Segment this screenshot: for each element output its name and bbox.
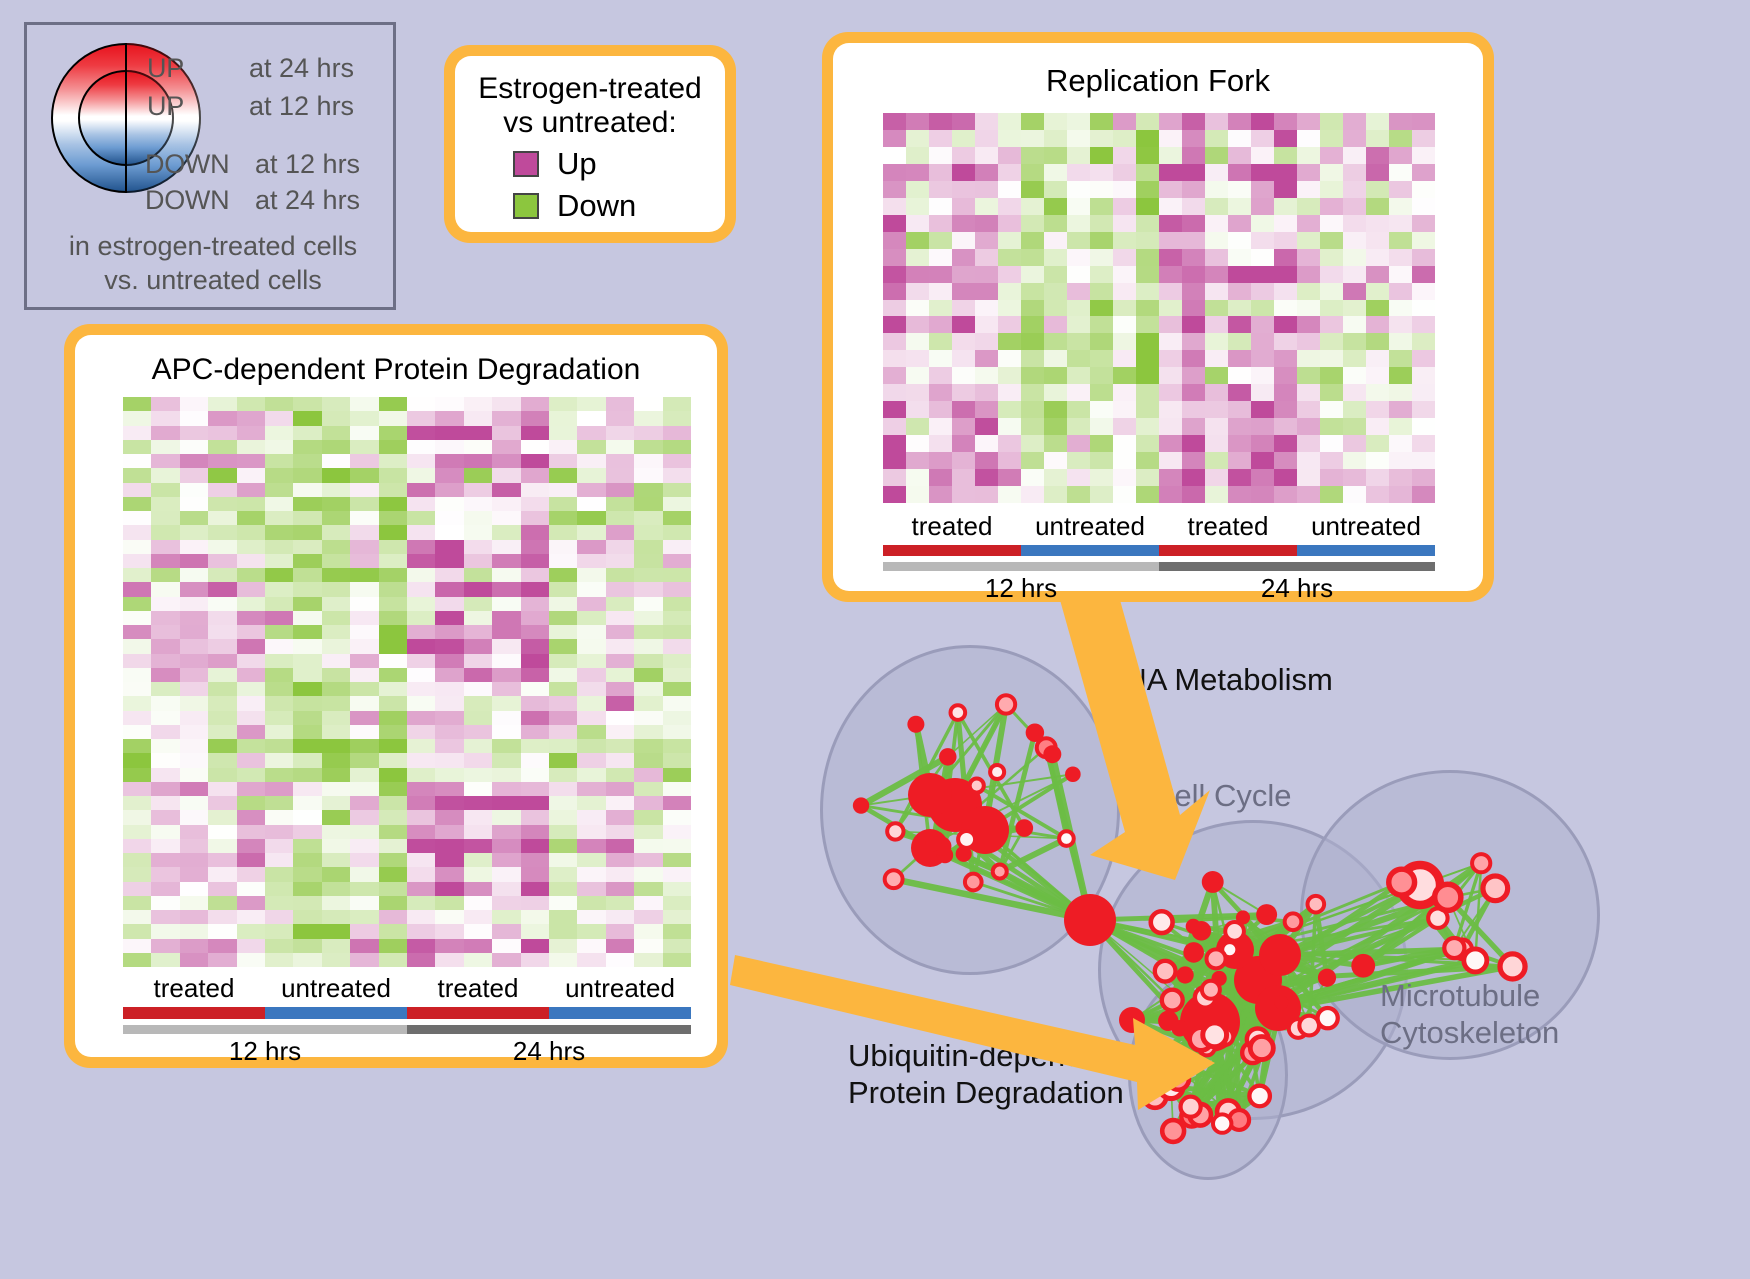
legend-item-down: Down (513, 188, 636, 224)
heatmap-cell (407, 411, 435, 425)
heatmap-cell (464, 782, 492, 796)
heatmap-cell (1205, 452, 1228, 469)
heatmap-cell (929, 130, 952, 147)
heatmap-cell (265, 625, 293, 639)
heatmap-cell (123, 910, 151, 924)
heatmap-cell (521, 440, 549, 454)
wheel-time-up-24: at 24 hrs (249, 53, 354, 84)
heatmap-cell (521, 426, 549, 440)
heatmap-cell (663, 411, 691, 425)
heatmap-cell (180, 611, 208, 625)
heatmap-cell (1343, 418, 1366, 435)
heatmap-cell (293, 540, 321, 554)
heatmap-cell (123, 768, 151, 782)
heatmap-cell (549, 625, 577, 639)
heatmap-cell (952, 401, 975, 418)
heatmap-cell (151, 882, 179, 896)
heatmap-cell (180, 939, 208, 953)
heatmap-cell (151, 540, 179, 554)
heatmap-cell (322, 896, 350, 910)
heatmap-cell (1251, 316, 1274, 333)
heatmap-cell (1251, 113, 1274, 130)
heatmap-cell (237, 867, 265, 881)
heatmap-cell (237, 540, 265, 554)
heatmap-cell (929, 113, 952, 130)
heatmap-cell (350, 654, 378, 668)
heatmap-cell (322, 682, 350, 696)
heatmap-cell (634, 825, 662, 839)
heatmap-cell (1389, 198, 1412, 215)
heatmap-cell (1205, 469, 1228, 486)
heatmap-cell (634, 768, 662, 782)
heatmap-cell (606, 525, 634, 539)
heatmap-cell (265, 511, 293, 525)
heatmap-cell (379, 696, 407, 710)
heatmap-cell (1159, 181, 1182, 198)
heatmap-cell (464, 810, 492, 824)
heatmap-cell (883, 164, 906, 181)
heatmap-cell (237, 397, 265, 411)
heatmap-cell (606, 825, 634, 839)
heatmap-cell (1159, 266, 1182, 283)
heatmap-cell (492, 867, 520, 881)
heatmap-cell (350, 468, 378, 482)
heatmap-cell (1343, 435, 1366, 452)
heatmap-cell (1412, 452, 1435, 469)
heatmap-cell (322, 839, 350, 853)
heatmap-cell (929, 350, 952, 367)
treatment-bar-replication-fork (883, 545, 1435, 556)
heatmap-cell (237, 411, 265, 425)
heatmap-cell (151, 597, 179, 611)
heatmap-cell (237, 910, 265, 924)
heatmap-cell (663, 753, 691, 767)
heatmap-cell (663, 582, 691, 596)
heatmap-cell (1320, 333, 1343, 350)
column-group-label: untreated (265, 973, 407, 1005)
heatmap-cell (407, 939, 435, 953)
heatmap-cell (606, 511, 634, 525)
heatmap-cell (208, 497, 236, 511)
heatmap-cell (906, 367, 929, 384)
heatmap-cell (663, 440, 691, 454)
heatmap-cell (606, 939, 634, 953)
heatmap-cell (350, 639, 378, 653)
heatmap-cell (265, 568, 293, 582)
heatmap-cell (929, 367, 952, 384)
heatmap-cell (1205, 266, 1228, 283)
heatmap-cell (663, 882, 691, 896)
heatmap-cell (208, 468, 236, 482)
heatmap-legend-box: Estrogen-treated vs untreated: Up Down (444, 45, 736, 243)
heatmap-cell (492, 939, 520, 953)
heatmap-cell (1228, 283, 1251, 300)
heatmap-cell (322, 867, 350, 881)
heatmap-cell (180, 625, 208, 639)
heatmap-cell (1366, 113, 1389, 130)
heatmap-cell (464, 582, 492, 596)
heatmap-cell (1136, 333, 1159, 350)
heatmap-cell (1366, 283, 1389, 300)
heatmap-legend-inner: Estrogen-treated vs untreated: Up Down (455, 56, 725, 232)
heatmap-cell (293, 882, 321, 896)
heatmap-cell (952, 181, 975, 198)
heatmap-cell (237, 682, 265, 696)
heatmap-cell (265, 554, 293, 568)
heatmap-cell (606, 668, 634, 682)
heatmap-cell (1389, 367, 1412, 384)
heatmap-cell (180, 397, 208, 411)
heatmap-cell (322, 411, 350, 425)
heatmap-cell (151, 682, 179, 696)
heatmap-cell (180, 440, 208, 454)
heatmap-cell (577, 625, 605, 639)
heatmap-cell (1090, 215, 1113, 232)
heatmap-cell (379, 753, 407, 767)
heatmap-cell (350, 711, 378, 725)
time-bar-segment (883, 562, 1159, 571)
heatmap-cell (435, 768, 463, 782)
heatmap-cell (577, 810, 605, 824)
heatmap-cell (237, 654, 265, 668)
heatmap-cell (606, 411, 634, 425)
heatmap-cell (521, 483, 549, 497)
heatmap-cell (1251, 452, 1274, 469)
heatmap-cell (208, 483, 236, 497)
heatmap-cell (492, 711, 520, 725)
label-microtubule-line-1: Microtubule (1380, 978, 1559, 1015)
heatmap-cell (521, 853, 549, 867)
heatmap-cell (1182, 266, 1205, 283)
heatmap-cell (208, 867, 236, 881)
heatmap-cell (464, 525, 492, 539)
heatmap-cell (180, 853, 208, 867)
heatmap-cell (1412, 266, 1435, 283)
heatmap-cell (998, 418, 1021, 435)
heatmap-cell (492, 782, 520, 796)
heatmap-cell (1182, 384, 1205, 401)
network-node (1171, 1020, 1188, 1037)
heatmap-cell (1274, 418, 1297, 435)
heatmap-cell (521, 582, 549, 596)
heatmap-cell (379, 896, 407, 910)
heatmap-cell (180, 497, 208, 511)
heatmap-cell (265, 540, 293, 554)
heatmap-cell (464, 611, 492, 625)
heatmap-cell (975, 367, 998, 384)
heatmap-cell (1412, 232, 1435, 249)
heatmap-cell (1320, 401, 1343, 418)
heatmap-cell (322, 597, 350, 611)
heatmap-cell (1320, 113, 1343, 130)
heatmap-cell (606, 568, 634, 582)
heatmap-cell (123, 696, 151, 710)
heatmap-cell (606, 810, 634, 824)
heatmap-cell (379, 867, 407, 881)
heatmap-cell (549, 411, 577, 425)
heatmap-cell (883, 283, 906, 300)
heatmap-cell (464, 682, 492, 696)
heatmap-cell (322, 440, 350, 454)
heatmap-cell (265, 739, 293, 753)
heatmap-cell (322, 924, 350, 938)
heatmap-cell (1067, 147, 1090, 164)
heatmap-cell (1228, 469, 1251, 486)
network-node (1351, 954, 1375, 978)
heatmap-cell (929, 300, 952, 317)
heatmap-cell (634, 440, 662, 454)
heatmap-cell (407, 753, 435, 767)
heatmap-cell (322, 554, 350, 568)
heatmap-cell (208, 953, 236, 967)
heatmap-cell (237, 739, 265, 753)
heatmap-cell (1136, 435, 1159, 452)
heatmap-cell (1343, 333, 1366, 350)
heatmap-cell (208, 668, 236, 682)
heatmap-cell (1228, 486, 1251, 503)
heatmap-cell (123, 597, 151, 611)
network-node (1318, 969, 1336, 987)
heatmap-cell (435, 753, 463, 767)
heatmap-cell (407, 782, 435, 796)
heatmap-cell (151, 511, 179, 525)
heatmap-cell (663, 739, 691, 753)
heatmap-cell (1090, 418, 1113, 435)
network-node (1202, 981, 1220, 999)
heatmap-cell (906, 164, 929, 181)
heatmap-cell (577, 483, 605, 497)
heatmap-cell (577, 825, 605, 839)
network-node (1249, 1086, 1270, 1107)
heatmap-cell (293, 397, 321, 411)
heatmap-cell (322, 953, 350, 967)
heatmap-cell (929, 316, 952, 333)
heatmap-cell (237, 582, 265, 596)
heatmap-cell (322, 497, 350, 511)
heatmap-cell (577, 554, 605, 568)
heatmap-cell (1389, 350, 1412, 367)
heatmap-cell (1021, 130, 1044, 147)
color-wheel-caption: in estrogen-treated cells vs. untreated … (27, 230, 399, 298)
heatmap-cell (634, 454, 662, 468)
heatmap-cell (1090, 181, 1113, 198)
heatmap-cell (322, 782, 350, 796)
heatmap-cell (322, 768, 350, 782)
heatmap-cell (1113, 130, 1136, 147)
heatmap-cell (435, 483, 463, 497)
network-node (1500, 954, 1525, 979)
heatmap-cell (265, 796, 293, 810)
heatmap-cell (549, 511, 577, 525)
heatmap-cell (1297, 452, 1320, 469)
heatmap-cell (1366, 130, 1389, 147)
heatmap-cell (293, 554, 321, 568)
heatmap-cell (521, 668, 549, 682)
heatmap-cell (577, 853, 605, 867)
heatmap-cell (407, 953, 435, 967)
network-node (1026, 723, 1044, 741)
heatmap-cell (1182, 435, 1205, 452)
heatmap-cell (208, 554, 236, 568)
heatmap-cell (237, 525, 265, 539)
heatmap-cell (208, 611, 236, 625)
heatmap-cell (1136, 486, 1159, 503)
heatmap-cell (407, 867, 435, 881)
network-node (1162, 1120, 1184, 1142)
heatmap-cell (975, 249, 998, 266)
heatmap-cell (577, 668, 605, 682)
heatmap-cell (265, 682, 293, 696)
heatmap-cell (237, 625, 265, 639)
heatmap-cell (906, 147, 929, 164)
heatmap-cell (293, 639, 321, 653)
heatmap-cell (208, 711, 236, 725)
heatmap-cell (1136, 401, 1159, 418)
heatmap-cell (1389, 249, 1412, 266)
heatmap-cell (208, 696, 236, 710)
heatmap-cell (975, 113, 998, 130)
network-node (1151, 911, 1173, 933)
heatmap-cell (435, 953, 463, 967)
heatmap-cell (521, 639, 549, 653)
heatmap-cell (521, 739, 549, 753)
heatmap-cell (549, 953, 577, 967)
heatmap-cell (521, 796, 549, 810)
heatmap-cell (1182, 418, 1205, 435)
heatmap-cell (322, 910, 350, 924)
heatmap-cell (492, 682, 520, 696)
heatmap-cell (208, 568, 236, 582)
heatmap-cell (151, 796, 179, 810)
heatmap-cell (549, 682, 577, 696)
heatmap-cell (350, 483, 378, 497)
heatmap-cell (407, 796, 435, 810)
heatmap-cell (492, 668, 520, 682)
heatmap-cell (237, 554, 265, 568)
heatmap-cell (1090, 350, 1113, 367)
heatmap-cell (577, 739, 605, 753)
heatmap-legend-title: Estrogen-treated vs untreated: (455, 72, 725, 139)
time-bar-segment (1159, 562, 1435, 571)
heatmap-cell (1228, 452, 1251, 469)
heatmap-cell (634, 910, 662, 924)
network-node (1064, 894, 1116, 946)
heatmap-cell (1113, 198, 1136, 215)
heatmap-cell (1021, 164, 1044, 181)
heatmap-cell (634, 525, 662, 539)
heatmap-cell (1389, 232, 1412, 249)
heatmap-cell (407, 454, 435, 468)
label-dna-metabolism: DNA Metabolism (1102, 662, 1333, 698)
heatmap-cell (634, 882, 662, 896)
network-node (1464, 949, 1487, 972)
heatmap-cell (1182, 350, 1205, 367)
heatmap-cell (350, 782, 378, 796)
heatmap-cell (322, 696, 350, 710)
heatmap-cell (1113, 486, 1136, 503)
heatmap-cell (379, 440, 407, 454)
heatmap-cell (1228, 215, 1251, 232)
heatmap-cell (208, 910, 236, 924)
heatmap-cell (606, 867, 634, 881)
heatmap-cell (634, 939, 662, 953)
heatmap-cell (521, 725, 549, 739)
heatmap-cell (521, 554, 549, 568)
heatmap-cell (123, 825, 151, 839)
heatmap-cell (577, 426, 605, 440)
heatmap-cell (606, 696, 634, 710)
heatmap-cell (350, 511, 378, 525)
heatmap-cell (151, 525, 179, 539)
heatmap-cell (1044, 266, 1067, 283)
heatmap-cell (1067, 164, 1090, 181)
heatmap-cell (634, 739, 662, 753)
heatmap-cell (1251, 401, 1274, 418)
heatmap-cell (151, 696, 179, 710)
heatmap-cell (208, 540, 236, 554)
heatmap-cell (1113, 113, 1136, 130)
heatmap-cell (975, 283, 998, 300)
heatmap-cell (1067, 350, 1090, 367)
heatmap-cell (1297, 401, 1320, 418)
heatmap-cell (1205, 435, 1228, 452)
heatmap-cell (1343, 147, 1366, 164)
heatmap-cell (151, 739, 179, 753)
heatmap-cell (435, 397, 463, 411)
heatmap-cell (237, 497, 265, 511)
heatmap-cell (322, 525, 350, 539)
heatmap-cell (975, 300, 998, 317)
heatmap-cell (634, 696, 662, 710)
heatmap-cell (1159, 469, 1182, 486)
wheel-label-up-24: UP (147, 53, 184, 84)
heatmap-cell (407, 839, 435, 853)
heatmap-cell (180, 540, 208, 554)
heatmap-cell (180, 511, 208, 525)
heatmap-cell (1297, 113, 1320, 130)
heatmap-cell (123, 896, 151, 910)
heatmap-cell (606, 839, 634, 853)
heatmap-cell (407, 711, 435, 725)
heatmap-cell (435, 924, 463, 938)
heatmap-cell (180, 483, 208, 497)
heatmap-cell (237, 810, 265, 824)
heatmap-cell (322, 711, 350, 725)
heatmap-cell (180, 867, 208, 881)
heatmap-cell (237, 511, 265, 525)
heatmap-cell (379, 582, 407, 596)
heatmap-cell (1343, 181, 1366, 198)
network-node (1167, 1068, 1189, 1090)
heatmap-cell (606, 753, 634, 767)
time-labels-apc: 12 hrs24 hrs (123, 1036, 691, 1068)
treatment-bar-segment (1297, 545, 1435, 556)
heatmap-cell (577, 725, 605, 739)
heatmap-cell (1159, 300, 1182, 317)
heatmap-cell (407, 682, 435, 696)
treatment-bar-segment (407, 1007, 549, 1019)
legend-item-up: Up (513, 146, 597, 182)
heatmap-cell (350, 910, 378, 924)
heatmap-cell (1251, 266, 1274, 283)
network-node (1213, 1114, 1231, 1132)
heatmap-cell (952, 147, 975, 164)
heatmap-cell (883, 147, 906, 164)
heatmap-cell (1297, 418, 1320, 435)
heatmap-cell (1412, 367, 1435, 384)
heatmap-cell (975, 486, 998, 503)
heatmap-cell (1205, 198, 1228, 215)
